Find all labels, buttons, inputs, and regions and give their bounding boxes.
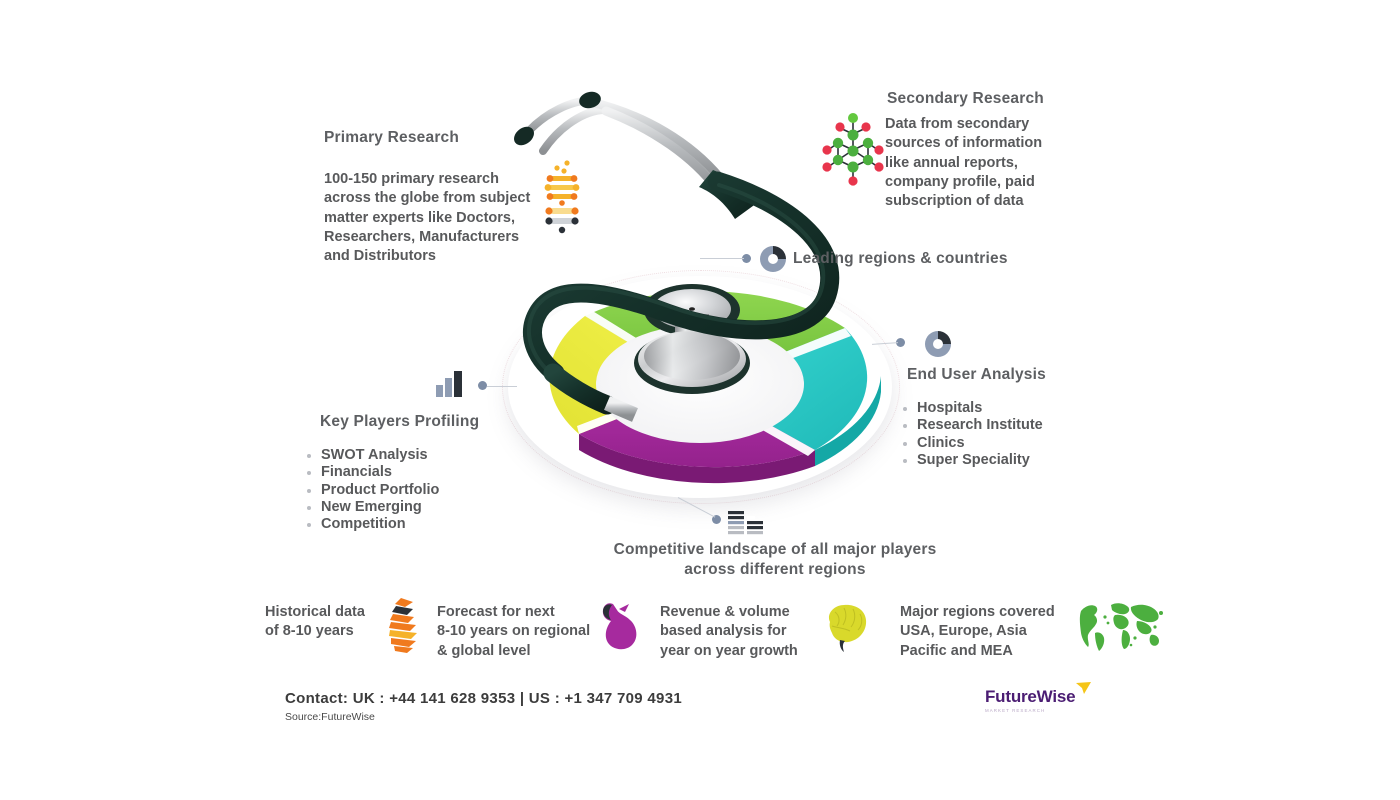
dna-helix-icon	[542, 158, 582, 238]
list-item: SWOT Analysis	[306, 447, 506, 464]
futurewise-logo[interactable]: FutureWise MARKET RESEARCH	[985, 687, 1085, 717]
brain-icon	[820, 600, 872, 652]
key-players-title: Key Players Profiling	[320, 413, 479, 431]
competitive-caption: Competitive landscape of all major playe…	[565, 541, 985, 579]
world-map-icon	[1075, 597, 1165, 653]
strip-text-forecast: Forecast for next 8-10 years on regional…	[437, 603, 597, 661]
donut-chart-icon	[758, 244, 788, 274]
contact-line: Contact: UK : +44 141 628 9353 | US : +1…	[285, 690, 682, 707]
primary-research-body: 100-150 primary research across the glob…	[324, 170, 536, 266]
molecule-icon	[822, 110, 884, 192]
list-item: Product Portfolio	[306, 482, 506, 499]
list-item-continuation: Competition	[306, 516, 506, 533]
key-players-leader-line	[487, 386, 517, 387]
list-item: Hospitals	[902, 400, 1092, 417]
key-players-dot	[478, 381, 487, 390]
donut-chart-icon	[923, 329, 953, 359]
stomach-organ-icon	[595, 600, 641, 652]
strip-text-regions: Major regions covered USA, Europe, Asia …	[900, 603, 1080, 661]
list-item: Super Speciality	[902, 452, 1092, 469]
source-label: Source:FutureWise	[285, 711, 375, 723]
key-players-list: SWOT Analysis Financials Product Portfol…	[306, 447, 506, 533]
competitive-line-2: across different regions	[565, 561, 985, 579]
logo-arrow-icon	[1075, 681, 1093, 697]
bottom-strip: Historical data of 8-10 years Forecast f…	[255, 592, 1165, 664]
leading-regions-leader-line	[700, 258, 744, 259]
spine-icon	[383, 596, 423, 654]
bar-chart-icon	[434, 370, 468, 398]
list-item: New Emerging	[306, 499, 506, 516]
logo-tagline: MARKET RESEARCH	[985, 708, 1085, 713]
end-user-list: Hospitals Research Institute Clinics Sup…	[902, 400, 1092, 469]
infographic-canvas: Primary Research /*title styled below*/ …	[0, 0, 1400, 800]
list-item: Financials	[306, 464, 506, 481]
strip-text-revenue: Revenue & volume based analysis for year…	[660, 603, 820, 661]
competitive-line-1: Competitive landscape of all major playe…	[565, 541, 985, 559]
list-item: Clinics	[902, 435, 1092, 452]
list-item: Research Institute	[902, 417, 1092, 434]
secondary-research-body: Data from secondary sources of informati…	[885, 115, 1045, 211]
equalizer-chart-icon	[727, 510, 767, 540]
strip-text-historical: Historical data of 8-10 years	[265, 603, 390, 642]
primary-research-title: Primary Research	[324, 129, 459, 147]
end-user-title: End User Analysis	[907, 366, 1046, 384]
secondary-research-title: Secondary Research	[887, 90, 1044, 108]
leading-regions-label: Leading regions & countries	[793, 250, 1008, 268]
logo-wordmark: FutureWise	[985, 687, 1075, 706]
